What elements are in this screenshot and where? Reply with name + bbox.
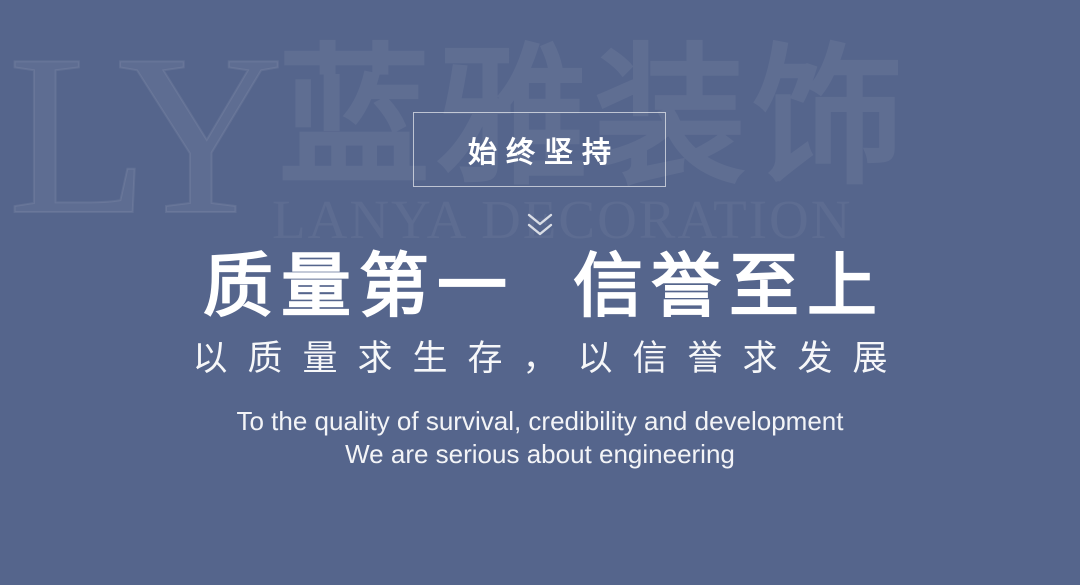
headline-part-left: 质量第一: [203, 245, 515, 327]
kicker-label: 始终坚持: [459, 129, 620, 171]
double-chevron-down-icon: [525, 212, 555, 238]
english-tagline-line-2: We are serious about engineering: [0, 438, 1080, 471]
promo-banner: LY 蓝雅装饰 LANYA DECORATION 始终坚持 质量第一信誉至上 以…: [0, 0, 1080, 585]
banner-content: 始终坚持 质量第一信誉至上 以质量求生存，以信誉求发展 To the quali…: [0, 0, 1080, 585]
english-tagline: To the quality of survival, credibility …: [0, 405, 1080, 472]
page-title: 质量第一信誉至上: [0, 249, 1080, 323]
kicker-badge: 始终坚持: [413, 112, 666, 187]
page-subtitle: 以质量求生存，以信誉求发展: [0, 338, 1080, 380]
english-tagline-line-1: To the quality of survival, credibility …: [0, 405, 1080, 438]
headline-part-right: 信誉至上: [573, 245, 885, 327]
